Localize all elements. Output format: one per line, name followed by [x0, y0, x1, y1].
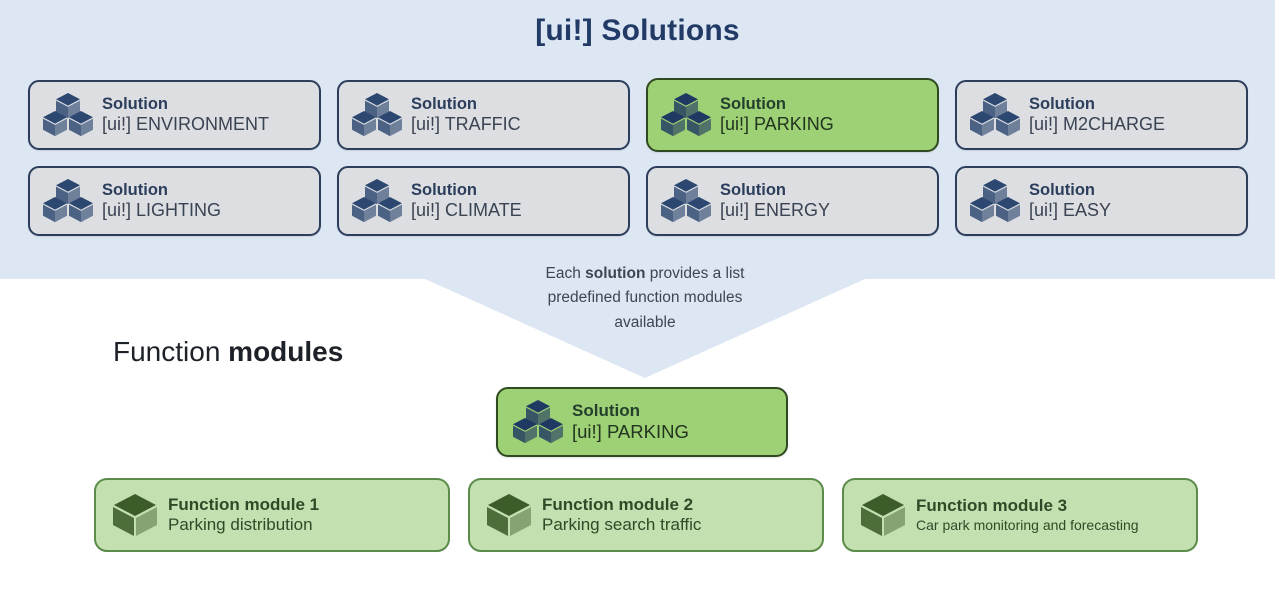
- solution-card-kicker: Solution: [720, 181, 830, 200]
- solution-card-texts: Solution[ui!] ENERGY: [720, 181, 830, 222]
- cubes-icon: [42, 91, 94, 139]
- arrow-note-line3: available: [614, 314, 675, 331]
- cubes-icon: [660, 177, 712, 225]
- solution-card-kicker: Solution: [102, 181, 221, 200]
- arrow-note: Each solution provides a list predefined…: [425, 262, 865, 335]
- focused-solution-texts: Solution[ui!] PARKING: [572, 401, 689, 443]
- arrow-note-line1-pre: Each: [546, 265, 586, 282]
- arrow-note-line1-bold: solution: [585, 265, 645, 282]
- function-module-card-1[interactable]: Function module 1Parking distribution: [94, 478, 450, 552]
- cube-icon: [110, 492, 160, 538]
- function-module-title: Function module 1: [168, 495, 319, 515]
- focused-solution-kicker: Solution: [572, 401, 689, 421]
- cube-icon: [484, 492, 534, 538]
- solution-card-texts: Solution[ui!] M2CHARGE: [1029, 95, 1165, 136]
- solution-card-name: [ui!] TRAFFIC: [411, 114, 521, 135]
- solution-card-texts: Solution[ui!] TRAFFIC: [411, 95, 521, 136]
- diagram-canvas: [ui!] Solutions Solution[ui!] ENVIRONMEN…: [0, 0, 1275, 609]
- cubes-icon: [660, 91, 712, 139]
- solution-card-texts: Solution[ui!] ENVIRONMENT: [102, 95, 269, 136]
- function-module-subtitle: Parking distribution: [168, 515, 319, 535]
- solution-card-name: [ui!] PARKING: [720, 114, 834, 135]
- solution-card-name: [ui!] CLIMATE: [411, 200, 522, 221]
- focused-solution-name: [ui!] PARKING: [572, 421, 689, 443]
- solution-card-lighting[interactable]: Solution[ui!] LIGHTING: [28, 166, 321, 236]
- function-module-title: Function module 3: [916, 496, 1139, 516]
- solution-card-texts: Solution[ui!] LIGHTING: [102, 181, 221, 222]
- solution-card-name: [ui!] LIGHTING: [102, 200, 221, 221]
- cubes-icon: [351, 91, 403, 139]
- function-module-subtitle: Parking search traffic: [542, 515, 701, 535]
- solution-card-texts: Solution[ui!] EASY: [1029, 181, 1111, 222]
- function-modules-row: Function module 1Parking distributionFun…: [94, 478, 1198, 552]
- solutions-grid: Solution[ui!] ENVIRONMENTSolution[ui!] T…: [28, 80, 1248, 250]
- cubes-icon: [969, 177, 1021, 225]
- function-modules-heading: Function modules: [113, 336, 343, 368]
- focused-solution-card-parking[interactable]: Solution[ui!] PARKING: [496, 387, 788, 457]
- solution-card-easy[interactable]: Solution[ui!] EASY: [955, 166, 1248, 236]
- solution-card-environment[interactable]: Solution[ui!] ENVIRONMENT: [28, 80, 321, 150]
- page-title: [ui!] Solutions: [0, 14, 1275, 48]
- cubes-icon: [42, 177, 94, 225]
- solution-card-name: [ui!] EASY: [1029, 200, 1111, 221]
- cubes-icon: [969, 91, 1021, 139]
- solution-card-kicker: Solution: [411, 95, 521, 114]
- solution-card-name: [ui!] M2CHARGE: [1029, 114, 1165, 135]
- solution-card-kicker: Solution: [1029, 181, 1111, 200]
- solution-card-name: [ui!] ENVIRONMENT: [102, 114, 269, 135]
- arrow-note-line2: predefined function modules: [548, 289, 743, 306]
- function-module-card-3[interactable]: Function module 3Car park monitoring and…: [842, 478, 1198, 552]
- solutions-row: Solution[ui!] LIGHTINGSolution[ui!] CLIM…: [28, 166, 1248, 236]
- cubes-icon: [351, 177, 403, 225]
- solution-card-name: [ui!] ENERGY: [720, 200, 830, 221]
- function-module-card-2[interactable]: Function module 2Parking search traffic: [468, 478, 824, 552]
- solution-card-m2charge[interactable]: Solution[ui!] M2CHARGE: [955, 80, 1248, 150]
- function-module-title: Function module 2: [542, 495, 701, 515]
- arrow-note-line1-post: provides a list: [645, 265, 744, 282]
- solution-card-texts: Solution[ui!] CLIMATE: [411, 181, 522, 222]
- solution-card-energy[interactable]: Solution[ui!] ENERGY: [646, 166, 939, 236]
- solution-card-kicker: Solution: [1029, 95, 1165, 114]
- function-module-subtitle: Car park monitoring and forecasting: [916, 517, 1139, 534]
- solutions-row: Solution[ui!] ENVIRONMENTSolution[ui!] T…: [28, 80, 1248, 152]
- cubes-icon: [512, 398, 564, 446]
- solution-card-kicker: Solution: [411, 181, 522, 200]
- solution-card-kicker: Solution: [102, 95, 269, 114]
- solution-card-climate[interactable]: Solution[ui!] CLIMATE: [337, 166, 630, 236]
- solution-card-kicker: Solution: [720, 95, 834, 114]
- function-module-texts: Function module 2Parking search traffic: [542, 495, 701, 536]
- heading-bold-part: modules: [228, 336, 343, 367]
- solution-card-parking[interactable]: Solution[ui!] PARKING: [646, 78, 939, 152]
- function-module-texts: Function module 3Car park monitoring and…: [916, 496, 1139, 533]
- cube-icon: [858, 492, 908, 538]
- solution-card-traffic[interactable]: Solution[ui!] TRAFFIC: [337, 80, 630, 150]
- function-module-texts: Function module 1Parking distribution: [168, 495, 319, 536]
- solution-card-texts: Solution[ui!] PARKING: [720, 95, 834, 136]
- heading-thin-part: Function: [113, 336, 228, 367]
